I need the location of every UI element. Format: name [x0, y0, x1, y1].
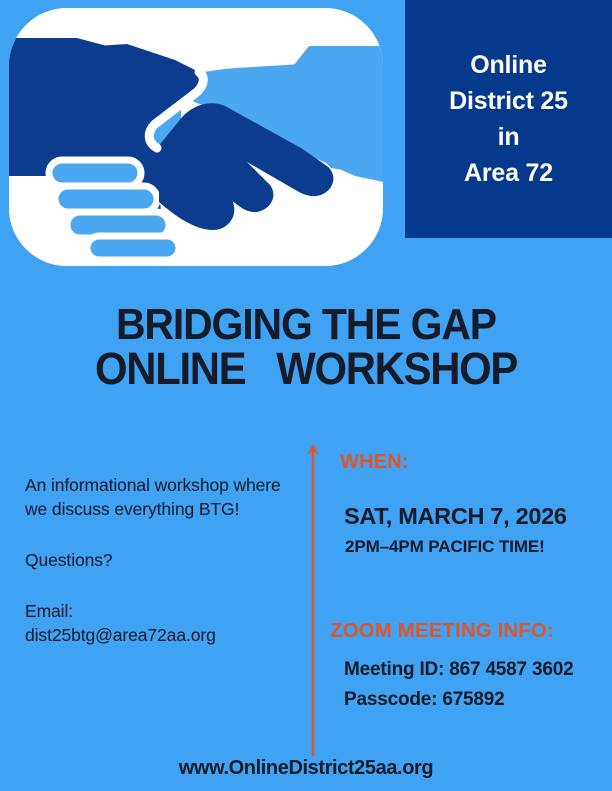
workshop-description: An informational workshop where we discu…: [25, 474, 291, 522]
district-badge: Online District 25 in Area 72: [405, 0, 612, 238]
right-info-column: WHEN: SAT, MARCH 7, 2026 2PM–4PM PACIFIC…: [330, 452, 605, 709]
when-label: WHEN:: [340, 452, 605, 472]
flyer-page: Online District 25 in Area 72 BRIDGING T…: [0, 0, 612, 791]
badge-line-3: in: [498, 125, 520, 150]
spacer-2: [25, 573, 291, 600]
event-time: 2PM–4PM PACIFIC TIME!: [345, 538, 605, 555]
title-line-1: BRIDGING THE GAP: [21, 303, 590, 347]
website-footer[interactable]: www.OnlineDistrict25aa.org: [0, 757, 612, 780]
page-title: BRIDGING THE GAP ONLINE WORKSHOP: [0, 303, 612, 391]
event-date: SAT, MARCH 7, 2026: [344, 505, 605, 529]
vertical-arrow-divider: [304, 443, 322, 756]
handshake-logo-card: [9, 8, 383, 266]
email-label: Email:: [25, 600, 291, 624]
arrow-up-icon: [304, 443, 322, 756]
badge-line-2: District 25: [449, 89, 568, 114]
zoom-meeting-id[interactable]: Meeting ID: 867 4587 3602: [344, 660, 605, 679]
email-address[interactable]: dist25btg@area72aa.org: [25, 624, 291, 648]
handshake-icon: [9, 8, 383, 266]
title-line-2: ONLINE WORKSHOP: [21, 347, 590, 392]
badge-line-4: Area 72: [464, 161, 553, 186]
left-info-column: An informational workshop where we discu…: [25, 474, 291, 648]
spacer-1: [25, 522, 291, 549]
questions-text: Questions?: [25, 549, 291, 573]
zoom-passcode[interactable]: Passcode: 675892: [344, 690, 605, 709]
zoom-info-label: ZOOM MEETING INFO:: [330, 621, 605, 642]
badge-line-1: Online: [470, 53, 547, 78]
